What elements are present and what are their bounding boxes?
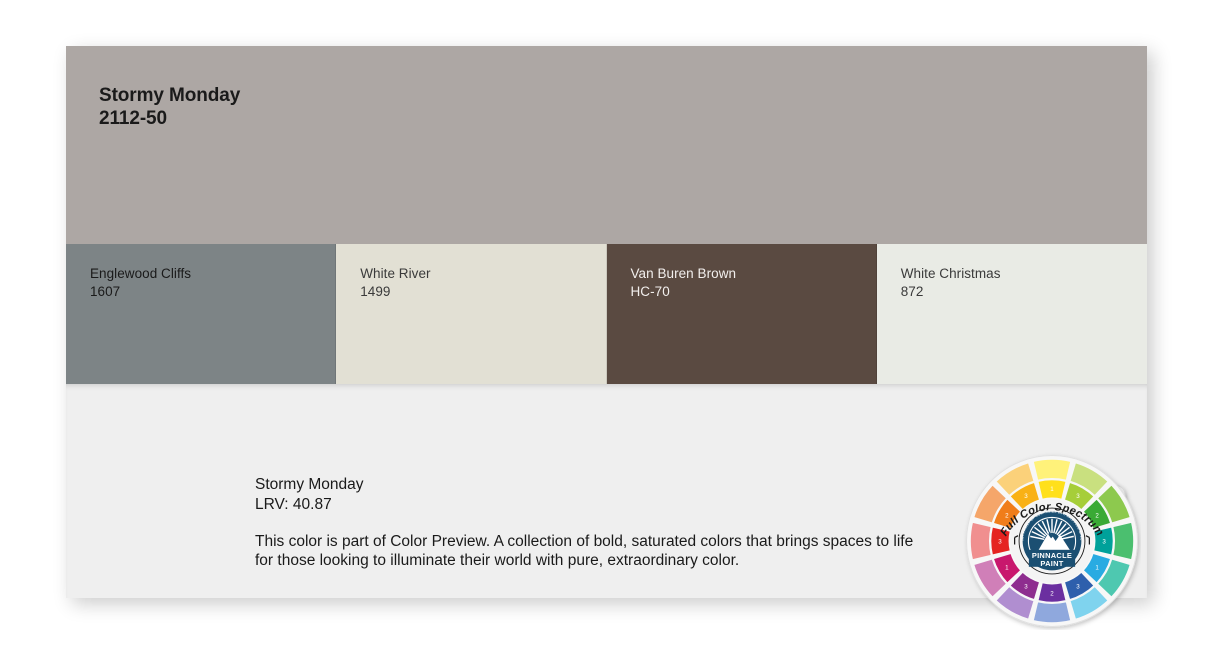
coordinating-swatch-4[interactable]: White Christmas 872 (877, 244, 1147, 384)
wheel-segment-number: 2 (1005, 512, 1009, 519)
wheel-segment-number: 3 (998, 538, 1002, 545)
swatch-color-name: Van Buren Brown (631, 265, 737, 283)
swatch-color-code: 872 (901, 283, 1001, 301)
wheel-segment-number: 1 (1050, 486, 1054, 493)
color-card: Stormy Monday 2112-50 Englewood Cliffs 1… (66, 46, 1147, 598)
coordinating-swatch-2[interactable]: White River 1499 (336, 244, 606, 384)
color-info-text-group: Stormy Monday LRV: 40.87 This color is p… (255, 475, 935, 571)
hero-color-code: 2112-50 (99, 107, 240, 130)
hero-color-swatch[interactable]: Stormy Monday 2112-50 (66, 46, 1147, 244)
swatch-label-group: White River 1499 (360, 265, 430, 301)
coordinating-swatch-3[interactable]: Van Buren Brown HC-70 (607, 244, 877, 384)
wheel-segment-number: 3 (1076, 583, 1080, 590)
wheel-segment-number: 3 (1076, 493, 1080, 500)
swatch-color-code: 1499 (360, 283, 430, 301)
wheel-segment-number: 2 (1050, 590, 1054, 597)
wheel-segment-number: 2 (1095, 512, 1099, 519)
hero-color-name: Stormy Monday (99, 84, 240, 107)
wheel-segment-number: 1 (1005, 564, 1009, 571)
wheel-segment-number: 1 (1095, 564, 1099, 571)
color-info-panel: Stormy Monday LRV: 40.87 This color is p… (66, 384, 1147, 598)
swatch-label-group: Van Buren Brown HC-70 (631, 265, 737, 301)
wheel-segment-number: 3 (1024, 583, 1028, 590)
coordinating-colors-strip: Englewood Cliffs 1607 White River 1499 V… (66, 244, 1147, 384)
color-detail-page: Stormy Monday 2112-50 Englewood Cliffs 1… (0, 0, 1211, 657)
wheel-segment-number: 3 (1102, 538, 1106, 545)
swatch-color-code: 1607 (90, 283, 191, 301)
brand-name-line2: PAINT (1040, 559, 1063, 568)
hero-label-group: Stormy Monday 2112-50 (99, 84, 240, 130)
swatch-color-name: White River (360, 265, 430, 283)
swatch-label-group: Englewood Cliffs 1607 (90, 265, 191, 301)
info-description: This color is part of Color Preview. A c… (255, 532, 927, 571)
swatch-color-name: Englewood Cliffs (90, 265, 191, 283)
coordinating-swatch-1[interactable]: Englewood Cliffs 1607 (66, 244, 336, 384)
swatch-label-group: White Christmas 872 (901, 265, 1001, 301)
wheel-segment-number: 3 (1024, 493, 1028, 500)
info-color-name: Stormy Monday (255, 475, 935, 495)
color-wheel-logo[interactable]: 132313231323 Full Color Spectrum (963, 452, 1141, 630)
info-lrv-value: LRV: 40.87 (255, 495, 935, 515)
swatch-color-name: White Christmas (901, 265, 1001, 283)
swatch-color-code: HC-70 (631, 283, 737, 301)
